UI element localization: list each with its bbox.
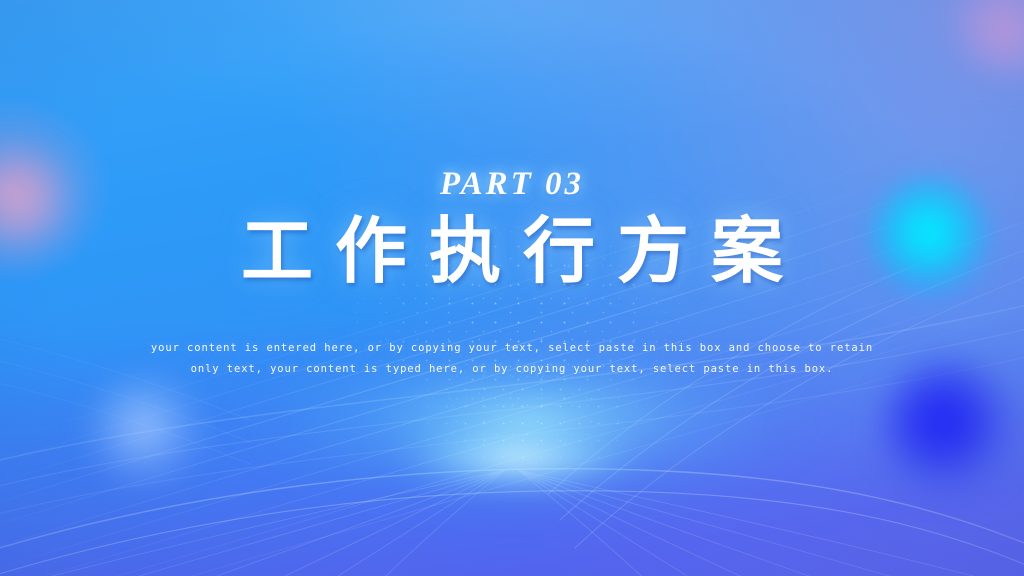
- body-line-2: only text, your content is typed here, o…: [0, 359, 1024, 380]
- presentation-slide: PART 03 工作执行方案 your content is entered h…: [0, 0, 1024, 576]
- slide-content: PART 03 工作执行方案 your content is entered h…: [0, 0, 1024, 380]
- section-label: PART 03: [0, 168, 1024, 201]
- page-title: 工作执行方案: [0, 215, 1024, 290]
- body-line-1: your content is entered here, or by copy…: [0, 338, 1024, 359]
- body-paragraph: your content is entered here, or by copy…: [0, 338, 1024, 380]
